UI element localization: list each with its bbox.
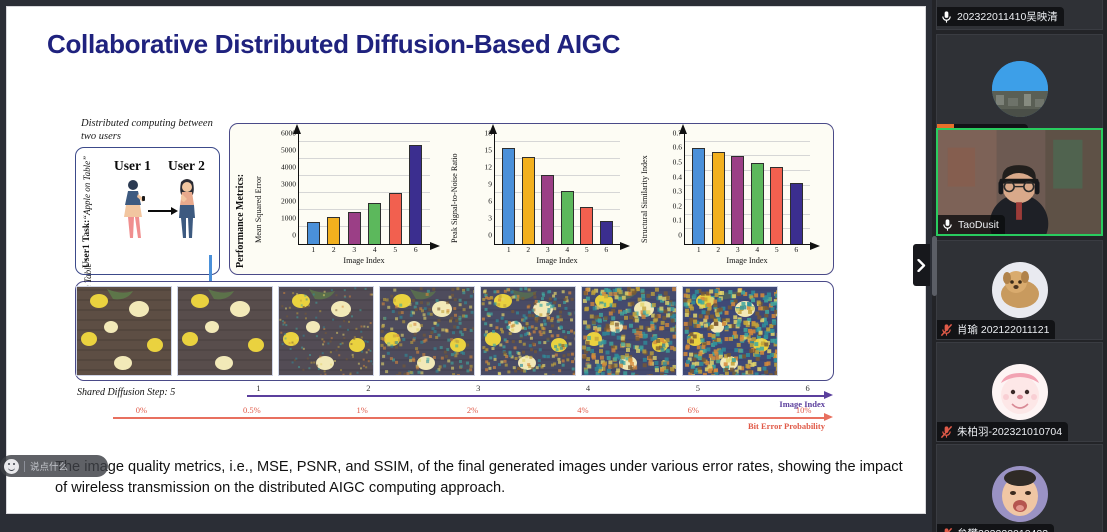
participant-tile[interactable]: 肖瑜 202122011121 [936,240,1103,340]
bar [327,217,340,244]
mic-muted-icon [940,425,953,439]
bar [692,148,705,244]
bar [541,175,554,244]
mic-muted-icon [940,527,953,532]
participant-name: 牟攀202222010423 [957,526,1048,532]
participant-name: 朱柏羽-202321010704 [957,424,1062,439]
participant-nameplate: 肖瑜 202122011121 [937,320,1055,339]
mic-muted-icon [940,323,953,337]
axis-tick-label: 1% [357,405,368,415]
y-axis-tick-label: 3 [488,213,492,222]
y-axis-tick-label: 9 [488,179,492,188]
axis-tick-label: 2 [366,383,370,393]
generated-image [581,286,677,376]
participant-nameplate: 202322011410吴映清 [937,7,1064,26]
participant-tile[interactable]: TaoDusit [936,128,1103,236]
bar-group: 123456 [685,133,810,244]
divider [24,461,25,472]
generated-image [682,286,778,376]
participant-name: 肖瑜 202122011121 [957,322,1049,337]
y-axis-tick-label: 0.5 [673,157,682,166]
y-axis-tick-label: 2000 [281,196,296,205]
x-axis-tick-label: 6 [604,245,608,254]
participant-rail[interactable]: 202322011410吴映清 Gang Sun [932,0,1107,532]
bar [561,191,574,245]
bit-error-probability-axis: Bit Error Probability 0%0.5%1%2%4%6%10% [113,417,825,419]
bar-group: 123456 [299,133,430,244]
avatar [992,466,1048,522]
y-axis-tick-label: 0.4 [673,172,682,181]
avatar-dog-photo [992,262,1048,318]
y-axis-tick-label: 0 [292,231,296,240]
presentation-slide: Collaborative Distributed Diffusion-Base… [6,6,926,514]
bar [731,156,744,244]
x-axis-tick-label: 4 [755,245,759,254]
shared-diffusion-step-label: Shared Diffusion Step: 5 [77,387,175,398]
chart-ssim-plot: 00.10.20.30.40.50.60.7123456 [684,133,810,245]
bar [522,157,535,244]
axis-tick-label: 6 [806,383,810,393]
slide-title: Collaborative Distributed Diffusion-Base… [47,29,620,60]
x-axis-tick-label: 5 [393,245,397,254]
x-axis-tick-label: 6 [414,245,418,254]
x-axis-tick-label: 6 [794,245,798,254]
x-axis-tick-label: 4 [373,245,377,254]
participant-name: TaoDusit [958,219,999,231]
y-axis-tick-label: 6000 [281,128,296,137]
x-axis-tick-label: 3 [352,245,356,254]
bar [307,222,320,244]
bar-group: 123456 [495,133,620,244]
axis-tick-label: 0.5% [243,405,261,415]
bar [368,203,381,244]
image-index-axis: Image Index 123456 [247,395,825,397]
chart-ssim-ylabel: Structural Similarity Index [640,131,649,243]
participant-nameplate: TaoDusit [938,215,1005,234]
y-axis-tick-label: 0 [678,231,682,240]
x-axis-tick-label: 1 [311,245,315,254]
x-axis-tick-label: 3 [546,245,550,254]
bar [580,207,593,244]
axis-tick-label: 4% [577,405,588,415]
mic-icon [940,10,953,24]
user2-name-label: User 2 [168,158,205,174]
generated-image [76,286,172,376]
y-axis-tick-label: 1000 [281,213,296,222]
avatar [992,364,1048,420]
axis-tick-label: 6% [688,405,699,415]
emoji-icon[interactable] [4,459,19,474]
chart-mse-xlabel: Image Index [298,256,430,265]
y-axis-tick-label: 0.7 [673,128,682,137]
x-axis-tick-label: 2 [716,245,720,254]
figure-container: Distributed computing between two users … [67,115,867,435]
chevron-right-icon [917,259,926,272]
user-task-box: User1 Task: “Apple on Table” User 1 User… [75,147,220,275]
generated-image [177,286,273,376]
participant-name: 202322011410吴映清 [957,9,1058,24]
mic-icon [941,218,954,232]
user1-name-label: User 1 [114,158,151,174]
generated-image [278,286,374,376]
x-axis-tick-label: 5 [775,245,779,254]
participant-nameplate: 牟攀202222010423 [937,524,1054,532]
y-axis-tick-label: 4000 [281,162,296,171]
y-axis-tick-label: 18 [485,128,493,137]
y-axis-tick-label: 0.1 [673,216,682,225]
participant-tile[interactable]: 牟攀202222010423 [936,444,1103,532]
axis-tick-label: 3 [476,383,480,393]
collapse-panel-button[interactable] [913,244,930,286]
generated-image [480,286,576,376]
bar [348,212,361,244]
y-axis-tick-label: 0.6 [673,143,682,152]
chart-mse-plot: 0100020003000400050006000123456 [298,133,430,245]
avatar-landscape-photo [992,61,1048,117]
y-axis-tick-label: 3000 [281,179,296,188]
transfer-arrow-icon [148,210,172,212]
chart-peak-signal-to-noise-ratio: Peak Signal-to-Noise Ratio 0369121518123… [448,127,638,273]
chart-structural-similarity-index: Structural Similarity Index 00.10.20.30.… [638,127,828,273]
avatar-cartoon-pig [992,364,1048,420]
chart-mean-squared-error: Mean Squared Error 010002000300040005000… [252,127,448,273]
chart-psnr-xlabel: Image Index [494,256,620,265]
distributed-computing-note: Distributed computing between two users [81,117,221,143]
x-axis-tick-label: 2 [526,245,530,254]
participant-tile[interactable]: 朱柏羽-202321010704 [936,342,1103,442]
x-axis-tick-label: 3 [736,245,740,254]
x-axis-tick-label: 4 [565,245,569,254]
y-axis-tick-label: 0 [488,231,492,240]
y-axis-tick-label: 5000 [281,145,296,154]
y-axis-tick-label: 0.3 [673,187,682,196]
bar [502,148,515,244]
performance-metrics-panel: Performance Metrics: Mean Squared Error … [229,123,834,275]
bar [389,193,402,244]
axis-tick-label: 0% [136,405,147,415]
chat-input-placeholder[interactable]: 说点什么 [30,459,68,473]
chart-mse-ylabel: Mean Squared Error [254,131,263,243]
performance-metrics-label: Performance Metrics: [235,132,246,268]
user1-task-prompt: “Apple on Table” [82,156,92,220]
chart-psnr-ylabel: Peak Signal-to-Noise Ratio [450,131,459,243]
avatar-baby-photo [992,466,1048,522]
user1-task-label: User1 Task: “Apple on Table” [82,156,92,268]
generated-image-strip: User2 Task: “Lemon on Table” [75,281,834,381]
y-axis-tick-label: 0.2 [673,201,682,210]
bit-error-axis-name: Bit Error Probability [748,421,825,431]
slide-caption: The image quality metrics, i.e., MSE, PS… [55,457,905,499]
chart-psnr-plot: 0369121518123456 [494,133,620,245]
y-axis-tick-label: 12 [485,162,493,171]
user1-figure-icon [120,178,146,240]
shared-screen-stage: Collaborative Distributed Diffusion-Base… [0,0,932,532]
avatar [992,262,1048,318]
axis-tick-label: 1 [256,383,260,393]
avatar [992,61,1048,117]
chart-ssim-xlabel: Image Index [684,256,810,265]
bar [712,152,725,244]
bar [751,163,764,244]
participant-nameplate: 朱柏羽-202321010704 [937,422,1068,441]
x-axis-tick-label: 1 [507,245,511,254]
x-axis-tick-label: 2 [332,245,336,254]
axis-tick-label: 5 [696,383,700,393]
bar [600,221,613,244]
chat-input-overlay[interactable]: 说点什么 [0,455,108,477]
participant-rail-scrollbar[interactable] [932,236,937,296]
y-axis-tick-label: 15 [485,145,493,154]
bar [790,183,803,244]
bar [770,167,783,244]
axis-tick-label: 10% [796,405,812,415]
participant-tile[interactable]: 202322011410吴映清 [936,0,1103,30]
axis-tick-label: 4 [586,383,590,393]
x-axis-tick-label: 5 [585,245,589,254]
y-axis-tick-label: 6 [488,196,492,205]
axis-tick-label: 2% [467,405,478,415]
x-axis-tick-label: 1 [697,245,701,254]
bar [409,145,422,244]
generated-image [379,286,475,376]
